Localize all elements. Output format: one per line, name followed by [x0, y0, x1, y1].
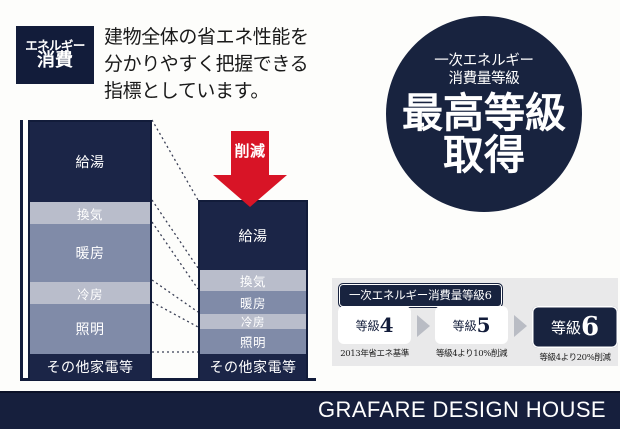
- footer-top-rule: [0, 391, 620, 393]
- chevron-right-icon: [417, 315, 430, 337]
- reduction-arrow: 削減: [213, 131, 287, 207]
- chevron-right-icon: [514, 315, 527, 337]
- bar-after-reduction: 給湯換気暖房冷房照明その他家電等: [198, 200, 308, 378]
- infographic-page: エネルギー 消費 建物全体の省エネ性能を 分かりやすく把握できる 指標としていま…: [0, 0, 620, 429]
- arrow-label: 削減: [213, 140, 287, 161]
- bar-segment-暖房: 暖房: [200, 291, 306, 314]
- bar-segment-照明: 照明: [30, 304, 150, 354]
- chart-axis-vertical: [20, 120, 23, 380]
- grade-number: 4: [380, 313, 394, 337]
- grade-arrow-2: [508, 306, 532, 337]
- energy-consumption-chart: 給湯換気暖房冷房照明その他家電等 給湯換気暖房冷房照明その他家電等 削減: [0, 0, 340, 400]
- bar-segment-冷房: 冷房: [30, 282, 150, 304]
- seal-small-line-2: 消費量等級: [449, 70, 520, 88]
- grade-caption: 2013年省エネ基準: [338, 347, 411, 359]
- grade-cell-6: 等級6等級4より20%削減: [532, 306, 618, 363]
- bar-current-standard: 給湯換気暖房冷房照明その他家電等: [28, 120, 152, 378]
- grade-number: 6: [581, 312, 599, 342]
- seal-small-line-1: 一次エネルギー: [434, 52, 533, 70]
- grade-label: 等級: [453, 317, 477, 334]
- grade-arrow-1: [411, 306, 435, 337]
- grade-caption: 等級4より10%削減: [435, 347, 508, 359]
- grade-number: 5: [477, 313, 491, 337]
- arrow-head-icon: [213, 175, 287, 207]
- highest-grade-seal: 一次エネルギー 消費量等級 最高等級 取得: [386, 16, 582, 212]
- grade-cell-5: 等級5等級4より10%削減: [435, 306, 508, 359]
- bar-segment-給湯: 給湯: [200, 202, 306, 270]
- grade-box-5: 等級5: [435, 306, 508, 344]
- grade-box-6: 等級6: [532, 306, 618, 348]
- grade-caption: 等級4より20%削減: [532, 351, 618, 363]
- grade-label: 等級: [356, 317, 380, 334]
- bar-segment-冷房: 冷房: [200, 314, 306, 329]
- grade-comparison-panel: 一次エネルギー消費量等級6 等級42013年省エネ基準等級5等級4より10%削減…: [332, 278, 618, 366]
- grade-pill-label: 一次エネルギー消費量等級6: [338, 283, 503, 308]
- bar-segment-その他家電等: その他家電等: [30, 354, 150, 380]
- brand-name: GRAFARE DESIGN HOUSE: [318, 397, 606, 423]
- seal-big-line-1: 最高等級: [402, 93, 566, 135]
- bar-segment-換気: 換気: [200, 270, 306, 291]
- seal-big-line-2: 取得: [443, 135, 525, 177]
- bar-segment-給湯: 給湯: [30, 122, 150, 202]
- bar-segment-暖房: 暖房: [30, 224, 150, 282]
- footer-banner: GRAFARE DESIGN HOUSE: [0, 391, 620, 429]
- bar-segment-照明: 照明: [200, 329, 306, 354]
- grade-cell-4: 等級42013年省エネ基準: [338, 306, 411, 359]
- grade-row: 等級42013年省エネ基準等級5等級4より10%削減等級6等級4より20%削減: [332, 306, 618, 366]
- bar-segment-その他家電等: その他家電等: [200, 354, 306, 380]
- grade-label: 等級: [551, 317, 581, 338]
- bar-segment-換気: 換気: [30, 202, 150, 224]
- grade-box-4: 等級4: [338, 306, 411, 344]
